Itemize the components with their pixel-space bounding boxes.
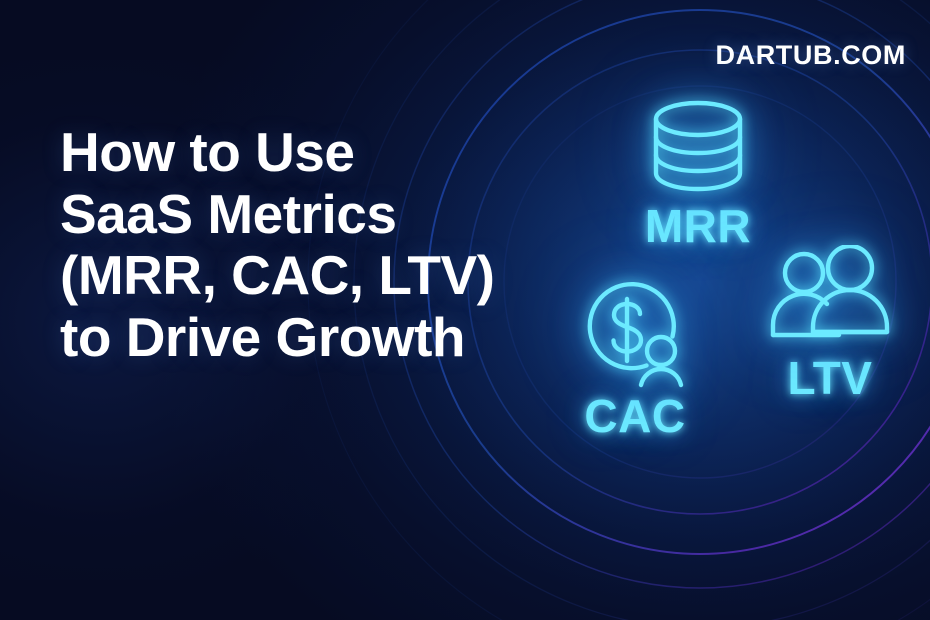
metric-item-cac: CAC	[535, 275, 735, 439]
metric-label-mrr: MRR	[598, 203, 798, 249]
metric-item-ltv: LTV	[730, 245, 930, 401]
page-title: How to Use SaaS Metrics (MRR, CAC, LTV) …	[60, 122, 520, 368]
metric-label-ltv: LTV	[730, 355, 930, 401]
title-line-4: to Drive Growth	[60, 307, 520, 369]
dollar-circle-person-icon	[572, 275, 698, 389]
title-line-1: How to Use	[60, 122, 520, 184]
metrics-cluster: MRR CAC	[480, 60, 930, 500]
metric-label-cac: CAC	[535, 393, 735, 439]
two-people-icon	[767, 245, 893, 351]
database-stack-icon	[642, 95, 754, 199]
title-line-3: (MRR, CAC, LTV)	[60, 245, 520, 307]
title-line-2: SaaS Metrics	[60, 184, 520, 246]
metric-item-mrr: MRR	[598, 95, 798, 249]
banner-canvas: DARTUB.COM How to Use SaaS Metrics (MRR,…	[0, 0, 930, 620]
